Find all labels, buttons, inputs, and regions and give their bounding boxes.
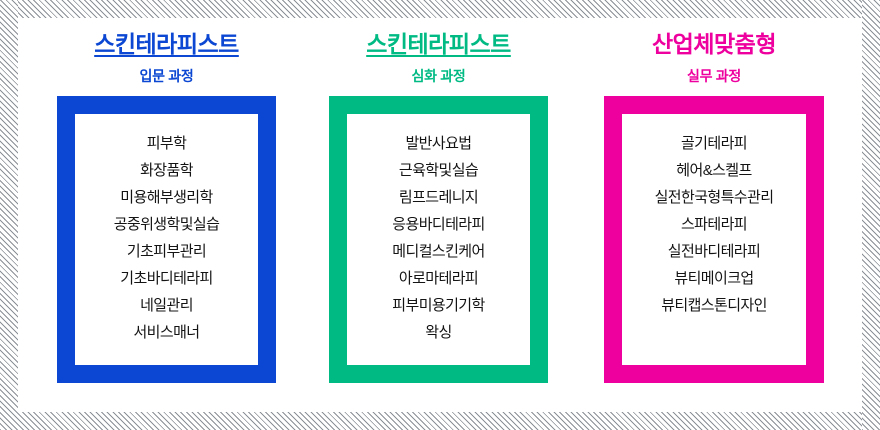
subject-list: 피부학 화장품학 미용해부생리학 공중위생학및실습 기초피부관리 기초바디테라피… — [75, 114, 258, 346]
subject-list: 골기테라피 헤어&스켈프 실전한국형특수관리 스파테라피 실전바디테라피 뷰티메… — [622, 114, 806, 319]
subject-list: 발반사요법 근육학및실습 림프드레니지 응용바디테라피 메디컬스킨케어 아로마테… — [347, 114, 530, 346]
course-column-skin-therapist-basic: 스킨테라피스트 입문 과정 피부학 화장품학 미용해부생리학 공중위생학및실습 … — [57, 30, 276, 383]
subject-item: 응용바디테라피 — [347, 211, 530, 238]
course-title: 스킨테라피스트 — [57, 30, 276, 58]
subject-item: 골기테라피 — [622, 130, 806, 157]
subject-item: 화장품학 — [75, 157, 258, 184]
course-columns: 스킨테라피스트 입문 과정 피부학 화장품학 미용해부생리학 공중위생학및실습 … — [0, 0, 880, 430]
curriculum-poster: 스킨테라피스트 입문 과정 피부학 화장품학 미용해부생리학 공중위생학및실습 … — [0, 0, 880, 430]
subject-item: 피부미용기기학 — [347, 292, 530, 319]
subject-item: 피부학 — [75, 130, 258, 157]
subject-item: 림프드레니지 — [347, 184, 530, 211]
course-subject-box: 골기테라피 헤어&스켈프 실전한국형특수관리 스파테라피 실전바디테라피 뷰티메… — [604, 96, 824, 383]
subject-item: 뷰티캡스톤디자인 — [622, 292, 806, 319]
subject-item: 서비스매너 — [75, 319, 258, 346]
course-subtitle: 심화 과정 — [329, 66, 548, 86]
subject-item: 기초바디테라피 — [75, 265, 258, 292]
course-title: 스킨테라피스트 — [329, 30, 548, 58]
course-title: 산업체맞춤형 — [604, 30, 824, 58]
subject-item: 스파테라피 — [622, 211, 806, 238]
course-subject-box: 피부학 화장품학 미용해부생리학 공중위생학및실습 기초피부관리 기초바디테라피… — [57, 96, 276, 383]
course-subtitle: 실무 과정 — [604, 66, 824, 86]
subject-item: 뷰티메이크업 — [622, 265, 806, 292]
subject-item: 실전바디테라피 — [622, 238, 806, 265]
subject-item: 기초피부관리 — [75, 238, 258, 265]
course-subject-box: 발반사요법 근육학및실습 림프드레니지 응용바디테라피 메디컬스킨케어 아로마테… — [329, 96, 548, 383]
subject-item: 근육학및실습 — [347, 157, 530, 184]
subject-item: 왁싱 — [347, 319, 530, 346]
subject-item: 발반사요법 — [347, 130, 530, 157]
subject-item: 미용해부생리학 — [75, 184, 258, 211]
course-column-industry-customized: 산업체맞춤형 실무 과정 골기테라피 헤어&스켈프 실전한국형특수관리 스파테라… — [604, 30, 824, 383]
course-subtitle: 입문 과정 — [57, 66, 276, 86]
subject-item: 메디컬스킨케어 — [347, 238, 530, 265]
subject-item: 아로마테라피 — [347, 265, 530, 292]
subject-item: 실전한국형특수관리 — [622, 184, 806, 211]
course-column-skin-therapist-advanced: 스킨테라피스트 심화 과정 발반사요법 근육학및실습 림프드레니지 응용바디테라… — [329, 30, 548, 383]
subject-item: 네일관리 — [75, 292, 258, 319]
subject-item: 헤어&스켈프 — [622, 157, 806, 184]
subject-item: 공중위생학및실습 — [75, 211, 258, 238]
